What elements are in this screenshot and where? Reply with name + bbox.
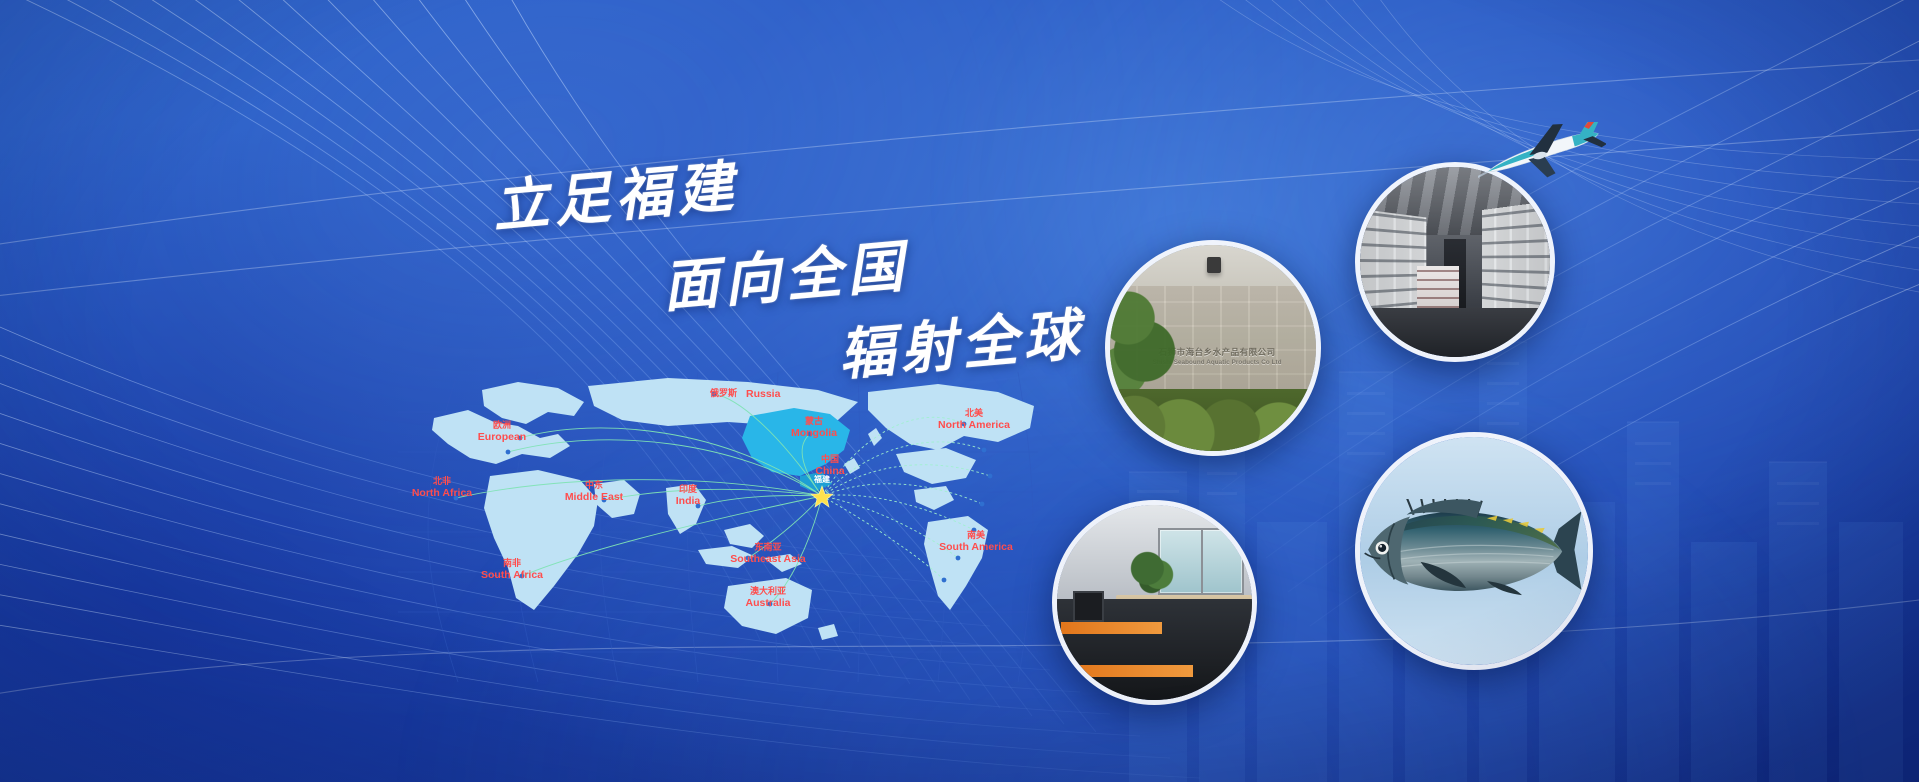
svg-text:South Africa: South Africa bbox=[481, 569, 543, 581]
warehouse-floor bbox=[1360, 308, 1550, 357]
photo-cold-storage-warehouse bbox=[1355, 162, 1555, 362]
svg-text:中国: 中国 bbox=[821, 453, 839, 464]
photo-company-gate: 石狮市海台乡水产品有限公司 Shishi Seabound Aquatic Pr… bbox=[1105, 240, 1321, 456]
photo-office-interior bbox=[1052, 500, 1257, 705]
svg-text:欧洲: 欧洲 bbox=[493, 419, 511, 430]
world-map: 福建 俄罗斯 Russia 蒙古 Mongolia 欧洲 European 中国 bbox=[398, 372, 1038, 682]
svg-text:俄罗斯: 俄罗斯 bbox=[709, 387, 737, 398]
map-label-australia: 澳大利亚 Australia bbox=[746, 585, 791, 609]
svg-text:North America: North America bbox=[938, 419, 1010, 431]
airplane-icon bbox=[1478, 122, 1606, 190]
svg-text:蒙古: 蒙古 bbox=[805, 415, 823, 426]
office-desk-stripe-upper bbox=[1061, 622, 1162, 634]
office-monitor bbox=[1073, 591, 1104, 622]
svg-text:Mongolia: Mongolia bbox=[791, 427, 837, 439]
svg-text:Russia: Russia bbox=[746, 388, 781, 400]
svg-text:Australia: Australia bbox=[746, 597, 791, 609]
gate-hedge bbox=[1110, 389, 1316, 451]
map-label-north-africa: 北非 North Africa bbox=[412, 475, 472, 499]
svg-text:Middle East: Middle East bbox=[565, 491, 624, 503]
svg-text:印度: 印度 bbox=[679, 483, 698, 494]
svg-text:澳大利亚: 澳大利亚 bbox=[750, 585, 786, 596]
photo-tuna-fish bbox=[1355, 432, 1593, 670]
svg-text:China: China bbox=[815, 465, 844, 477]
svg-text:南美: 南美 bbox=[967, 529, 986, 540]
svg-text:European: European bbox=[478, 431, 526, 443]
office-plant bbox=[1127, 548, 1178, 599]
svg-text:南非: 南非 bbox=[503, 557, 521, 568]
svg-text:东南亚: 东南亚 bbox=[754, 541, 781, 552]
svg-text:Southeast Asia: Southeast Asia bbox=[730, 553, 806, 565]
headline-line-1: 立足福建 bbox=[489, 141, 742, 243]
map-landmass bbox=[432, 378, 1034, 640]
svg-text:North Africa: North Africa bbox=[412, 487, 472, 499]
svg-text:中东: 中东 bbox=[585, 479, 603, 490]
svg-text:India: India bbox=[676, 495, 701, 507]
gate-lamp-icon bbox=[1207, 257, 1221, 273]
office-desk-stripe-lower bbox=[1069, 665, 1194, 677]
warehouse-boxes-right bbox=[1481, 201, 1550, 319]
tuna-fish-graphic bbox=[1355, 499, 1588, 604]
svg-text:South America: South America bbox=[939, 541, 1013, 553]
map-label-india: 印度 India bbox=[676, 483, 701, 507]
svg-text:北美: 北美 bbox=[965, 407, 984, 418]
hero-banner: 立足福建 面向全国 辐射全球 bbox=[0, 0, 1919, 782]
svg-text:北非: 北非 bbox=[433, 475, 451, 486]
headline-line-2: 面向全国 bbox=[659, 221, 912, 323]
